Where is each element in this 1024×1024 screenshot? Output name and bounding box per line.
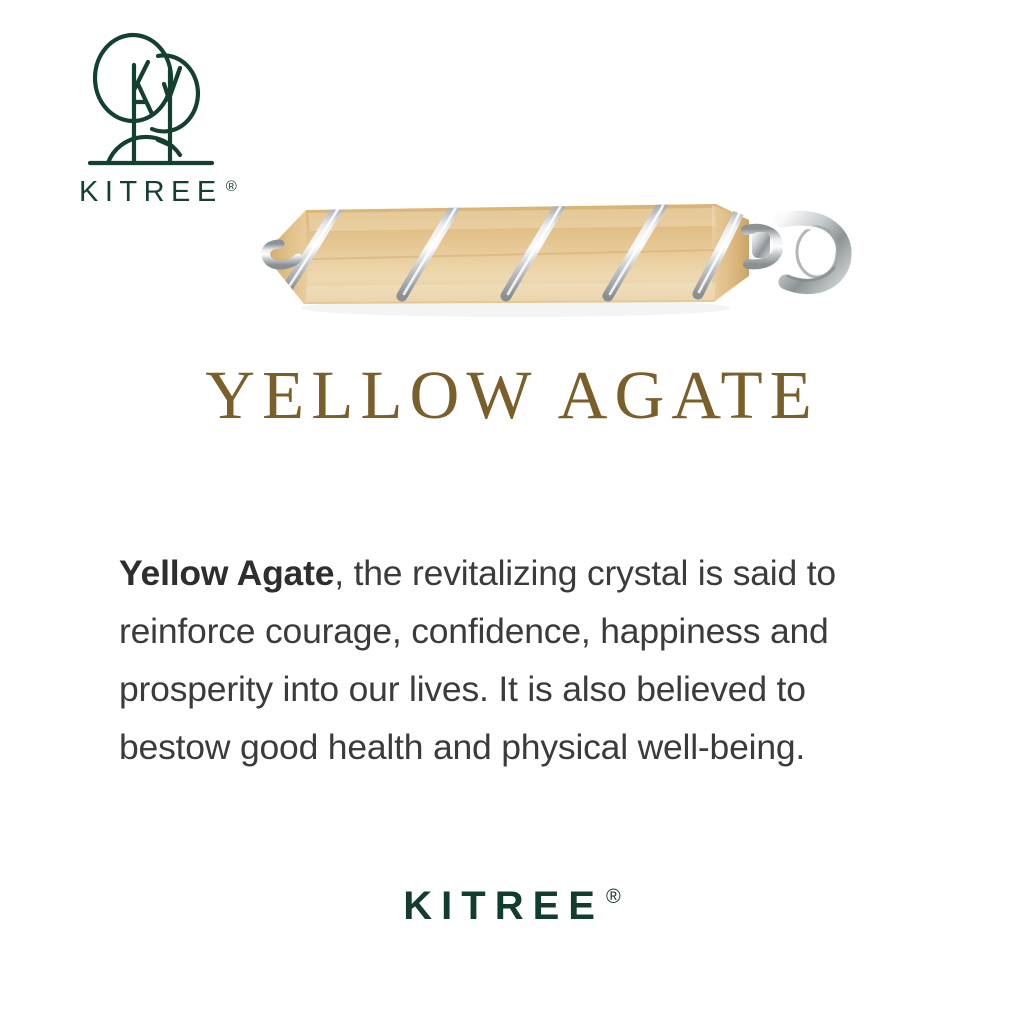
logo-wordmark-text: KITREE bbox=[79, 176, 223, 208]
registered-trademark-icon: ® bbox=[226, 178, 237, 195]
product-image bbox=[246, 186, 866, 346]
page-title: YELLOW AGATE bbox=[0, 361, 1024, 430]
logo-wordmark: KITREE® bbox=[79, 178, 237, 207]
footer-wordmark: KITREE® bbox=[0, 886, 1024, 926]
product-description: Yellow Agate, the revitalizing crystal i… bbox=[119, 544, 919, 776]
description-lead: Yellow Agate bbox=[119, 553, 334, 593]
registered-trademark-icon: ® bbox=[606, 886, 621, 908]
footer-wordmark-text: KITREE bbox=[403, 884, 604, 928]
tree-logo-icon bbox=[86, 22, 216, 172]
brand-logo: KITREE® bbox=[78, 22, 278, 207]
product-card: KITREE® bbox=[0, 0, 1024, 1024]
